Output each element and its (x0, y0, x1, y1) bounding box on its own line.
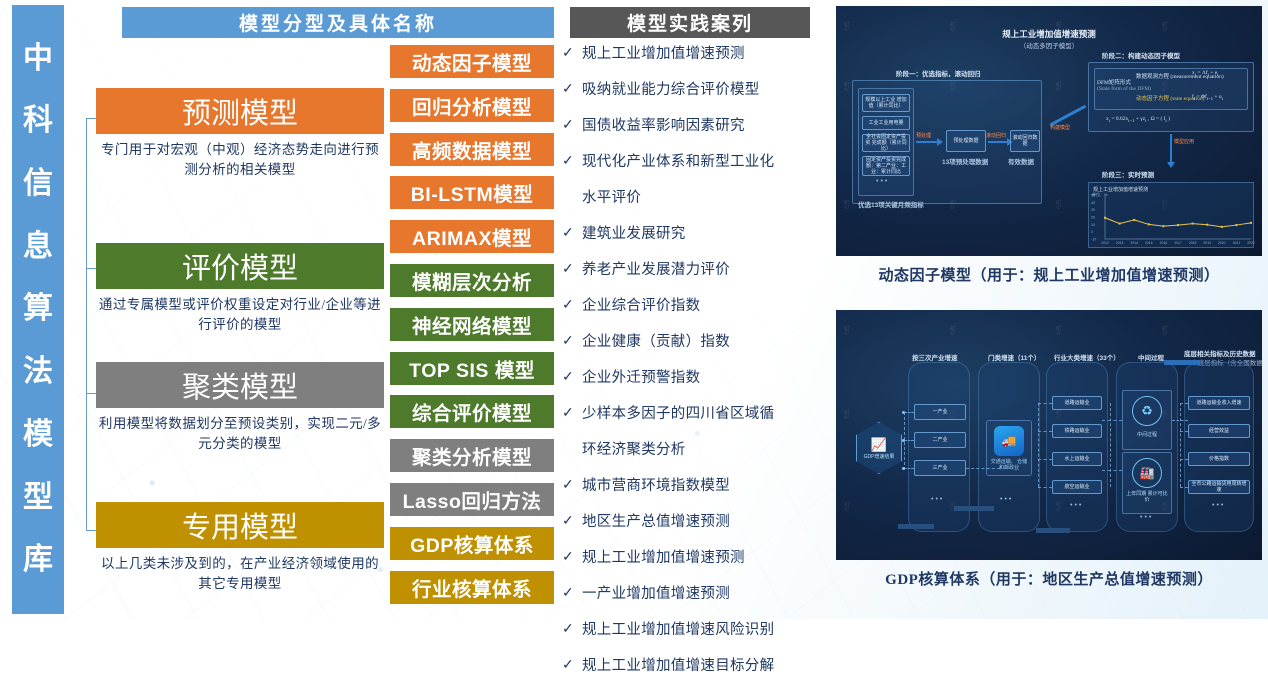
category-description: 以上几类未涉及到的，在产业经济领域使用的其它专用模型 (96, 554, 384, 595)
column-header-practice-cases: 模型实践案列 (570, 7, 810, 38)
category-title: 预测模型 (96, 88, 384, 134)
gdp-connector-h-7 (1038, 487, 1052, 488)
svg-text:30: 30 (1091, 208, 1095, 212)
gdp-bottom-ellipsis: ••• (1212, 502, 1225, 509)
practice-case-item[interactable]: ✓少样本多因子的四川省区域循 (562, 404, 830, 440)
check-icon: ✓ (562, 584, 573, 604)
model-button-12[interactable]: 行业核算体系 (390, 571, 554, 604)
gdp-bigclass-node-1: 铁路运输业 (1052, 424, 1102, 438)
gdp-result-hex: 📈 GDP增速结果 (856, 422, 902, 474)
dfm-stage3-label: 阶段三：实时预测 (1102, 169, 1154, 179)
check-icon: ✓ (562, 404, 573, 424)
dfm-flow-caption-0: 13项预处理数据 (942, 156, 988, 166)
svg-text:2014: 2014 (1130, 241, 1138, 245)
gdp-recycle-icon: ♻ (1132, 396, 1162, 426)
gdp-connector-v-2 (1110, 403, 1111, 487)
gdp-connector-h-13 (1180, 459, 1188, 460)
practice-case-text: 规上工业增加值增速风险识别 (582, 620, 774, 640)
figure-image-gdp: ❡ ❡ ❡ ❡ ❡ ❡ ❡ ❡ ❡ ❡ ❡ ❡ 按三次产业增速 门类增速（11个… (836, 310, 1262, 560)
gdp-connector-h-10 (1172, 420, 1188, 421)
model-button-11[interactable]: GDP核算体系 (390, 527, 554, 560)
practice-case-text: 现代化产业体系和新型工业化 (582, 152, 774, 172)
gdp-connector-h-4 (1038, 403, 1052, 404)
dfm-arrow-preprocess (916, 141, 938, 143)
practice-case-text: 国债收益率影响因素研究 (582, 116, 745, 136)
dfm-flow-node-0: 预处理数据 (946, 130, 986, 152)
check-icon: ✓ (562, 80, 573, 100)
vertical-title-char-0: 中 (23, 44, 53, 74)
check-icon: ✓ (562, 332, 573, 352)
practice-case-text: 一产业增加值增速预测 (582, 584, 730, 604)
gdp-bottom-node-3: 全市公路运输货用周转增速 (1188, 480, 1250, 494)
gdp-connector-h-9 (1102, 470, 1122, 471)
model-button-10[interactable]: Lasso回归方法 (390, 483, 554, 516)
practice-case-item[interactable]: ✓养老产业发展潜力评价 (562, 260, 830, 296)
dfm-indicator-node-0: 规模以上工业 增加值（累计同比） (862, 94, 910, 112)
model-button-9[interactable]: 聚类分析模型 (390, 439, 554, 472)
gdp-hex-label: GDP增速结果 (864, 453, 895, 460)
category-description: 专门用于对宏观（中观）经济态势走向进行预测分析的相关模型 (96, 140, 384, 181)
dfm-chart-svg: 单位：%50403020100-102012201320142015201620… (1089, 183, 1255, 249)
gdp-connector-h-2 (904, 468, 914, 469)
practice-case-text: 企业健康（贡献）指数 (582, 332, 730, 352)
vertical-title-char-7: 型 (23, 483, 53, 513)
gdp-bigclass-node-3: 航空运输业 (1052, 480, 1102, 494)
svg-text:2017: 2017 (1174, 241, 1182, 245)
gdp-industry-node-2: 三产业 (914, 460, 966, 476)
gdp-bottom-node-2: 价格指数 (1188, 452, 1250, 466)
check-icon: ✓ (562, 476, 573, 496)
practice-case-item[interactable]: ✓规上工业增加值增速风险识别 (562, 620, 830, 656)
dfm-arrow-rollingreg (988, 141, 1008, 143)
svg-text:50: 50 (1091, 194, 1095, 198)
dfm-arrow-label-build: 构建模型 (1050, 124, 1070, 131)
gdp-connector-h-1 (904, 440, 914, 441)
svg-text:2015: 2015 (1145, 241, 1153, 245)
practice-case-item[interactable]: ✓企业综合评价指数 (562, 296, 830, 332)
check-icon: ✓ (562, 152, 573, 172)
practice-case-continuation: 环经济聚类分析 (562, 440, 830, 476)
dfm-indicator-node-3: 固定资产投资完成额：第二产业：工业：累计同比 (862, 156, 910, 176)
check-icon: ✓ (562, 224, 573, 244)
practice-case-text: 规上工业增加值增速目标分解 (582, 656, 774, 676)
dfm-forecast-chart: 规上工业增加值增速预测 单位：%50403020100-102012201320… (1088, 182, 1254, 248)
check-icon: ✓ (562, 260, 573, 280)
gdp-mid-node-1: 上年同期 累计可比价 (1124, 488, 1170, 506)
practice-case-text: 建筑业发展研究 (582, 224, 686, 244)
gdp-big-arrow-2 (898, 524, 934, 529)
dfm-matrix-title: DFM矩阵形式 (1097, 78, 1131, 86)
category-description: 利用模型将数据划分至预设类别，实现二元/多元分类的模型 (96, 414, 384, 455)
practice-case-list: ✓规上工业增加值增速预测✓吸纳就业能力综合评价模型✓国债收益率影响因素研究✓现代… (562, 44, 830, 692)
model-button-8[interactable]: 综合评价模型 (390, 395, 554, 428)
practice-case-text: 企业外迁预警指数 (582, 368, 700, 388)
vertical-title-bar: 中科信息算法模型库 (12, 5, 64, 614)
practice-case-text: 少样本多因子的四川省区域循 (582, 404, 774, 424)
vertical-title-char-8: 库 (23, 545, 53, 575)
practice-case-item[interactable]: ✓国债收益率影响因素研究 (562, 116, 830, 152)
svg-text:2019: 2019 (1203, 241, 1211, 245)
dfm-indicator-node-2: 全社会固定资产投资 完成额（累计同比） (862, 134, 910, 152)
gdp-connector-h-5 (1038, 431, 1052, 432)
figure-image-dfm: ❡ ❡ ❡ ❡ ❡ ❡ ❡ ❡ ❡ ❡ ❡ ❡ 规上工业增加值增速预测 （动态多… (836, 6, 1262, 256)
vertical-title-char-3: 息 (23, 232, 53, 262)
check-icon: ✓ (562, 548, 573, 568)
model-button-0[interactable]: 动态因子模型 (390, 45, 554, 78)
vertical-title-char-2: 信 (23, 169, 53, 199)
gdp-col-label-0: 按三次产业增速 (912, 352, 958, 362)
column-header-model-types: 模型分型及具体名称 (122, 7, 554, 38)
gdp-col-label-3: 中间过程 (1138, 352, 1164, 362)
practice-case-item[interactable]: ✓企业健康（贡献）指数 (562, 332, 830, 368)
practice-case-item[interactable]: ✓规上工业增加值增速预测 (562, 44, 830, 80)
gdp-sector-ellipsis: ••• (1000, 496, 1013, 503)
vertical-title-char-1: 科 (23, 106, 53, 136)
gdp-connector-h-8 (1102, 420, 1122, 421)
practice-case-text: 规上工业增加值增速预测 (582, 44, 745, 64)
gdp-connector-h-11 (1180, 403, 1188, 404)
gdp-connector-h-6 (1038, 459, 1052, 460)
gdp-sector-node: 交通运输、 仓储和邮政业 (988, 456, 1030, 474)
gdp-big-arrow-0 (1164, 360, 1200, 365)
vertical-title-char-5: 法 (23, 357, 53, 387)
svg-text:40: 40 (1091, 201, 1095, 205)
svg-text:10: 10 (1091, 223, 1095, 227)
check-icon: ✓ (562, 620, 573, 640)
gdp-industry-ellipsis: ••• (931, 496, 944, 503)
figure-caption-gdp: GDP核算体系（用于：地区生产总值增速预测） (836, 568, 1262, 589)
gdp-bottom-node-0: 道路运输业收入增速 (1188, 396, 1250, 410)
gdp-connector-h-12 (1180, 431, 1188, 432)
check-icon: ✓ (562, 656, 573, 676)
vertical-title-char-6: 模 (23, 420, 53, 450)
practice-case-item[interactable]: ✓现代化产业体系和新型工业化 (562, 152, 830, 188)
svg-text:2018: 2018 (1189, 241, 1197, 245)
model-button-3[interactable]: BI-LSTM模型 (390, 176, 554, 209)
check-icon: ✓ (562, 368, 573, 388)
category-title: 专用模型 (96, 502, 384, 548)
model-button-7[interactable]: TOP SIS 模型 (390, 352, 554, 385)
svg-text:2016: 2016 (1160, 241, 1168, 245)
gdp-big-arrow-1 (954, 506, 994, 511)
check-icon: ✓ (562, 116, 573, 136)
check-icon: ✓ (562, 44, 573, 64)
gdp-bigclass-node-2: 水上运输业 (1052, 452, 1102, 466)
practice-case-text: 地区生产总值增速预测 (582, 512, 730, 532)
practice-case-text: 养老产业发展潜力评价 (582, 260, 730, 280)
dfm-indicator-node-1: 工业工业用电量 (862, 116, 910, 130)
gdp-big-arrow-3 (1036, 528, 1070, 533)
practice-case-item[interactable]: ✓吸纳就业能力综合评价模型 (562, 80, 830, 116)
svg-text:2020: 2020 (1218, 241, 1226, 245)
practice-case-continuation: 水平评价 (562, 188, 830, 224)
gdp-connector-v-3 (1180, 403, 1181, 487)
category-block-clustering[interactable]: 聚类模型 利用模型将数据划分至预设类别，实现二元/多元分类的模型 (96, 362, 384, 455)
practice-case-item[interactable]: ✓一产业增加值增速预测 (562, 584, 830, 620)
practice-case-text: 企业综合评价指数 (582, 296, 700, 316)
gdp-bottom-node-1: 经营效益 (1188, 424, 1250, 438)
dfm-matrix-subtitle: (State form of the DFM) (1097, 86, 1151, 92)
figure-caption-dfm: 动态因子模型（用于：规上工业增加值增速预测） (836, 264, 1262, 285)
dfm-stage2-label: 阶段二：构建动态因子模型 (1102, 50, 1180, 60)
dfm-flow-caption-1: 有效数据 (1008, 156, 1034, 166)
slide-canvas: 中科信息算法模型库 模型分型及具体名称 模型实践案列 预测模型 专门用于对宏观（… (0, 0, 1268, 619)
svg-text:2013: 2013 (1116, 241, 1124, 245)
practice-case-item[interactable]: ✓企业外迁预警指数 (562, 368, 830, 404)
model-button-4[interactable]: ARIMAX模型 (390, 220, 554, 253)
dfm-indicator-ellipsis: ••• (876, 178, 889, 185)
gdp-mid-ellipsis: ••• (1140, 514, 1153, 521)
practice-case-item[interactable]: ✓建筑业发展研究 (562, 224, 830, 260)
category-description: 通过专属模型或评价权重设定对行业/企业等进行评价的模型 (96, 295, 384, 336)
gdp-bigclass-ellipsis: ••• (1070, 502, 1083, 509)
svg-text:20: 20 (1091, 216, 1095, 220)
practice-case-text: 规上工业增加值增速预测 (582, 548, 745, 568)
dfm-slide-subtitle: （动态多因子模型） (836, 40, 1262, 50)
check-icon: ✓ (562, 512, 573, 532)
gdp-bigclass-node-0: 道路运输业 (1052, 396, 1102, 410)
svg-text:-10: -10 (1091, 238, 1096, 242)
model-button-6[interactable]: 神经网络模型 (390, 308, 554, 341)
gdp-connector-v-1 (1038, 403, 1039, 487)
svg-text:2012: 2012 (1101, 241, 1109, 245)
example-figure-gdp-accounting[interactable]: ❡ ❡ ❡ ❡ ❡ ❡ ❡ ❡ ❡ ❡ ❡ ❡ 按三次产业增速 门类增速（11个… (836, 310, 1262, 589)
gdp-col-label-1: 门类增速（11个） (988, 352, 1040, 362)
model-button-5[interactable]: 模糊层次分析 (390, 264, 554, 297)
gdp-connector-h-3 (966, 468, 1000, 469)
category-title: 聚类模型 (96, 362, 384, 408)
check-icon: ✓ (562, 296, 573, 316)
vertical-title-char-4: 算 (23, 294, 53, 324)
dfm-indicator-footnote: 优选13项关键月频指标 (858, 199, 924, 209)
category-block-specialized[interactable]: 专用模型 以上几类未涉及到的，在产业经济领域使用的其它专用模型 (96, 502, 384, 595)
dfm-arrow-label-apply: 模型应用 (1174, 138, 1194, 145)
gdp-mid-node-0: 中间过程 (1124, 428, 1170, 442)
dfm-arrow-label-preprocess: 预处理 (916, 132, 931, 139)
dfm-arrow-apply (1170, 134, 1172, 162)
dfm-stage1-label: 阶段一：优选指标，滚动回归 (896, 68, 981, 78)
category-title: 评价模型 (96, 243, 384, 289)
dfm-slide-title: 规上工业增加值增速预测 (836, 28, 1262, 40)
dfm-diagonal-arrow (1050, 105, 1087, 126)
svg-text:2021: 2021 (1233, 241, 1241, 245)
gdp-connector-h-0 (904, 412, 914, 413)
gdp-industry-node-0: 一产业 (914, 404, 966, 420)
example-figure-dynamic-factor-model[interactable]: ❡ ❡ ❡ ❡ ❡ ❡ ❡ ❡ ❡ ❡ ❡ ❡ 规上工业增加值增速预测 （动态多… (836, 6, 1262, 285)
practice-case-item[interactable]: ✓城市营商环境指数模型 (562, 476, 830, 512)
category-block-evaluation[interactable]: 评价模型 通过专属模型或评价权重设定对行业/企业等进行评价的模型 (96, 243, 384, 336)
dfm-flow-node-1: 滚动回归数据 (1010, 130, 1040, 152)
gdp-industry-node-1: 二产业 (914, 432, 966, 448)
category-block-forecast[interactable]: 预测模型 专门用于对宏观（中观）经济态势走向进行预测分析的相关模型 (96, 88, 384, 181)
model-button-1[interactable]: 回归分析模型 (390, 89, 554, 122)
practice-case-item[interactable]: ✓规上工业增加值增速目标分解 (562, 656, 830, 692)
model-button-2[interactable]: 高频数据模型 (390, 133, 554, 166)
svg-text:0: 0 (1091, 230, 1093, 234)
gdp-factory-icon: 🏭 (1132, 458, 1162, 488)
practice-case-item[interactable]: ✓规上工业增加值增速预测 (562, 548, 830, 584)
gdp-transport-icon: 🚚 (994, 426, 1024, 456)
gdp-col-label-2: 行业大类增速（33个） (1054, 352, 1120, 362)
dfm-arrow-label-rollingreg: 滚动回归 (986, 132, 1006, 139)
gdp-connector-h-14 (1180, 487, 1188, 488)
practice-case-text: 城市营商环境指数模型 (582, 476, 730, 496)
practice-case-item[interactable]: ✓地区生产总值增速预测 (562, 512, 830, 548)
svg-text:2022: 2022 (1247, 241, 1255, 245)
practice-case-text: 吸纳就业能力综合评价模型 (582, 80, 760, 100)
